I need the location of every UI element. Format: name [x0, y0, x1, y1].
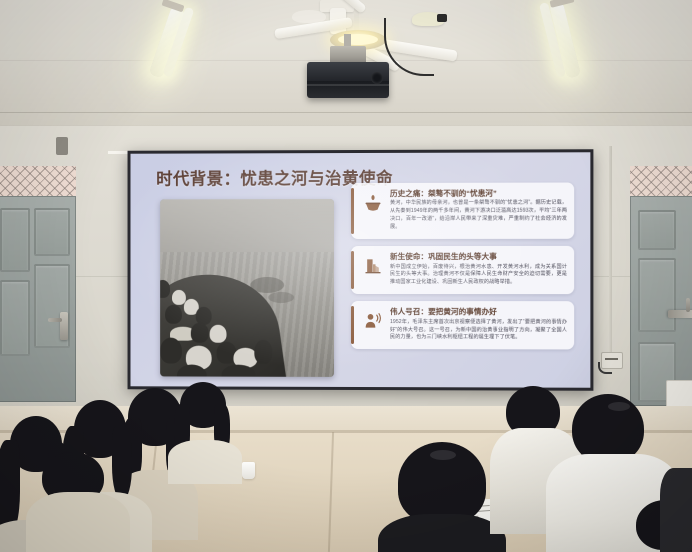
card-accent-bar — [351, 188, 354, 234]
ceiling-projector — [307, 62, 389, 98]
presentation-slide: 时代背景：忧患之河与治黄使命 — [130, 152, 590, 387]
ceiling-seam — [0, 112, 692, 113]
oil-lamp-icon — [362, 192, 384, 214]
door-transom-right — [630, 166, 692, 200]
student-bottom-right — [660, 448, 692, 552]
card-body: 黄河，中华民族的母亲河，也曾是一条桀骜不驯的“忧患之河”。据历史记载，从先秦到1… — [390, 200, 567, 232]
projection-screen: 时代背景：忧患之河与治黄使命 — [128, 149, 594, 391]
card-accent-bar — [351, 251, 354, 289]
fluorescent-tube-light-right — [528, 0, 598, 84]
student-left-far — [174, 382, 236, 460]
card-title: 新生使命：巩固民生的头等大事 — [390, 252, 567, 262]
door-handle-left[interactable] — [60, 312, 68, 340]
door-right[interactable] — [630, 196, 692, 406]
student-center — [386, 442, 496, 552]
socket-cord — [598, 362, 612, 374]
slide-card: 新生使命：巩固民生的头等大事 新中国成立伊始，百废待兴，根治黄河水患、开发黄河水… — [351, 246, 574, 294]
wall-plate — [56, 137, 68, 155]
historical-black-white-photo — [160, 199, 334, 377]
projector-lens-icon — [371, 72, 383, 84]
card-accent-bar — [351, 306, 354, 344]
student-left-1 — [32, 452, 122, 552]
slide-card: 伟人号召：要把黄河的事情办好 1952年，毛泽东主席首次出京视察便选择了黄河，发… — [351, 301, 574, 350]
card-body: 1952年，毛泽东主席首次出京视察便选择了黄河，发出了“要把黄河的事情办好”的伟… — [390, 319, 567, 343]
door-handle-right[interactable] — [668, 310, 692, 318]
slide-card: 历史之痛：桀骜不驯的“忧患河” 黄河，中华民族的母亲河，也曾是一条桀骜不驯的“忧… — [351, 182, 574, 239]
paper-cup — [242, 462, 255, 479]
door-left[interactable] — [0, 196, 76, 402]
card-body: 新中国成立伊始，百废待兴，根治黄河水患、开发黄河水利，成为关系国计民生的头等大事… — [390, 263, 567, 287]
person-speaking-icon — [362, 310, 384, 332]
classroom-scene: 时代背景：忧患之河与治黄使命 — [0, 0, 692, 552]
wall-conduit — [609, 146, 612, 352]
building-icon — [362, 255, 384, 277]
card-title: 历史之痛：桀骜不驯的“忧患河” — [390, 189, 567, 199]
door-transom-left — [0, 166, 76, 196]
card-title: 伟人号召：要把黄河的事情办好 — [390, 307, 567, 317]
slide-card-list: 历史之痛：桀骜不驯的“忧患河” 黄河，中华民族的母亲河，也曾是一条桀骜不驯的“忧… — [351, 182, 574, 356]
fluorescent-tube-light-left — [148, 2, 218, 80]
